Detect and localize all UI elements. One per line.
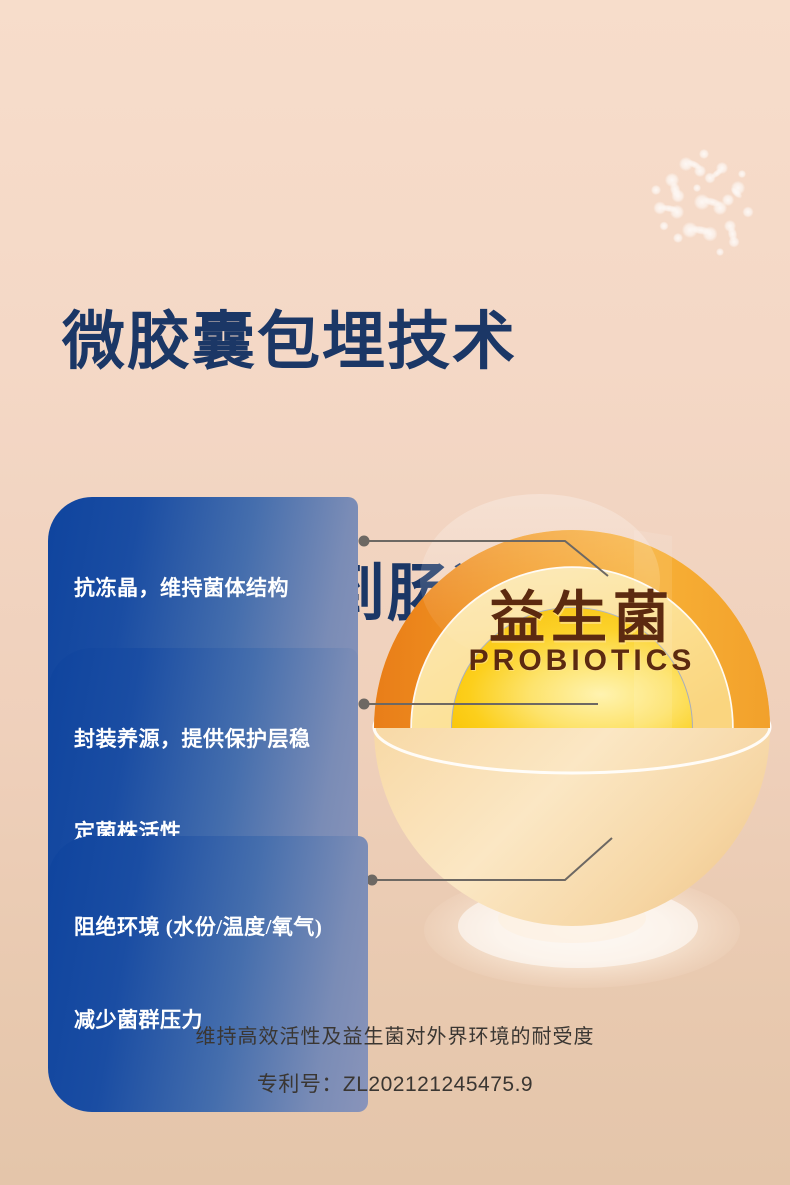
probiotics-microcapsule-poster: 微胶囊包埋技术 活菌鲜活到肠道 (0, 0, 790, 1185)
core-label-en: PROBIOTICS (372, 644, 790, 678)
callout-1-line-1: 抗冻晶，维持菌体结构 (74, 573, 340, 604)
core-label-cn: 益生菌 (372, 573, 790, 654)
callout-2-line-1: 封装养源，提供保护层稳 (74, 724, 340, 755)
bacteria-cluster-icon (634, 142, 774, 264)
headline-line-1: 微胶囊包埋技术 (62, 300, 662, 384)
footer-patent-number: 专利号：ZL202121245475.9 (0, 1068, 790, 1098)
sphere-svg (372, 430, 790, 990)
footer-tagline: 维持高效活性及益生菌对外界环境的耐受度 (0, 1020, 790, 1049)
callout-3-line-1: 阻绝环境 (水份/温度/氧气) (74, 912, 350, 943)
microcapsule-sphere-graphic: 益生菌 PROBIOTICS (372, 430, 790, 990)
